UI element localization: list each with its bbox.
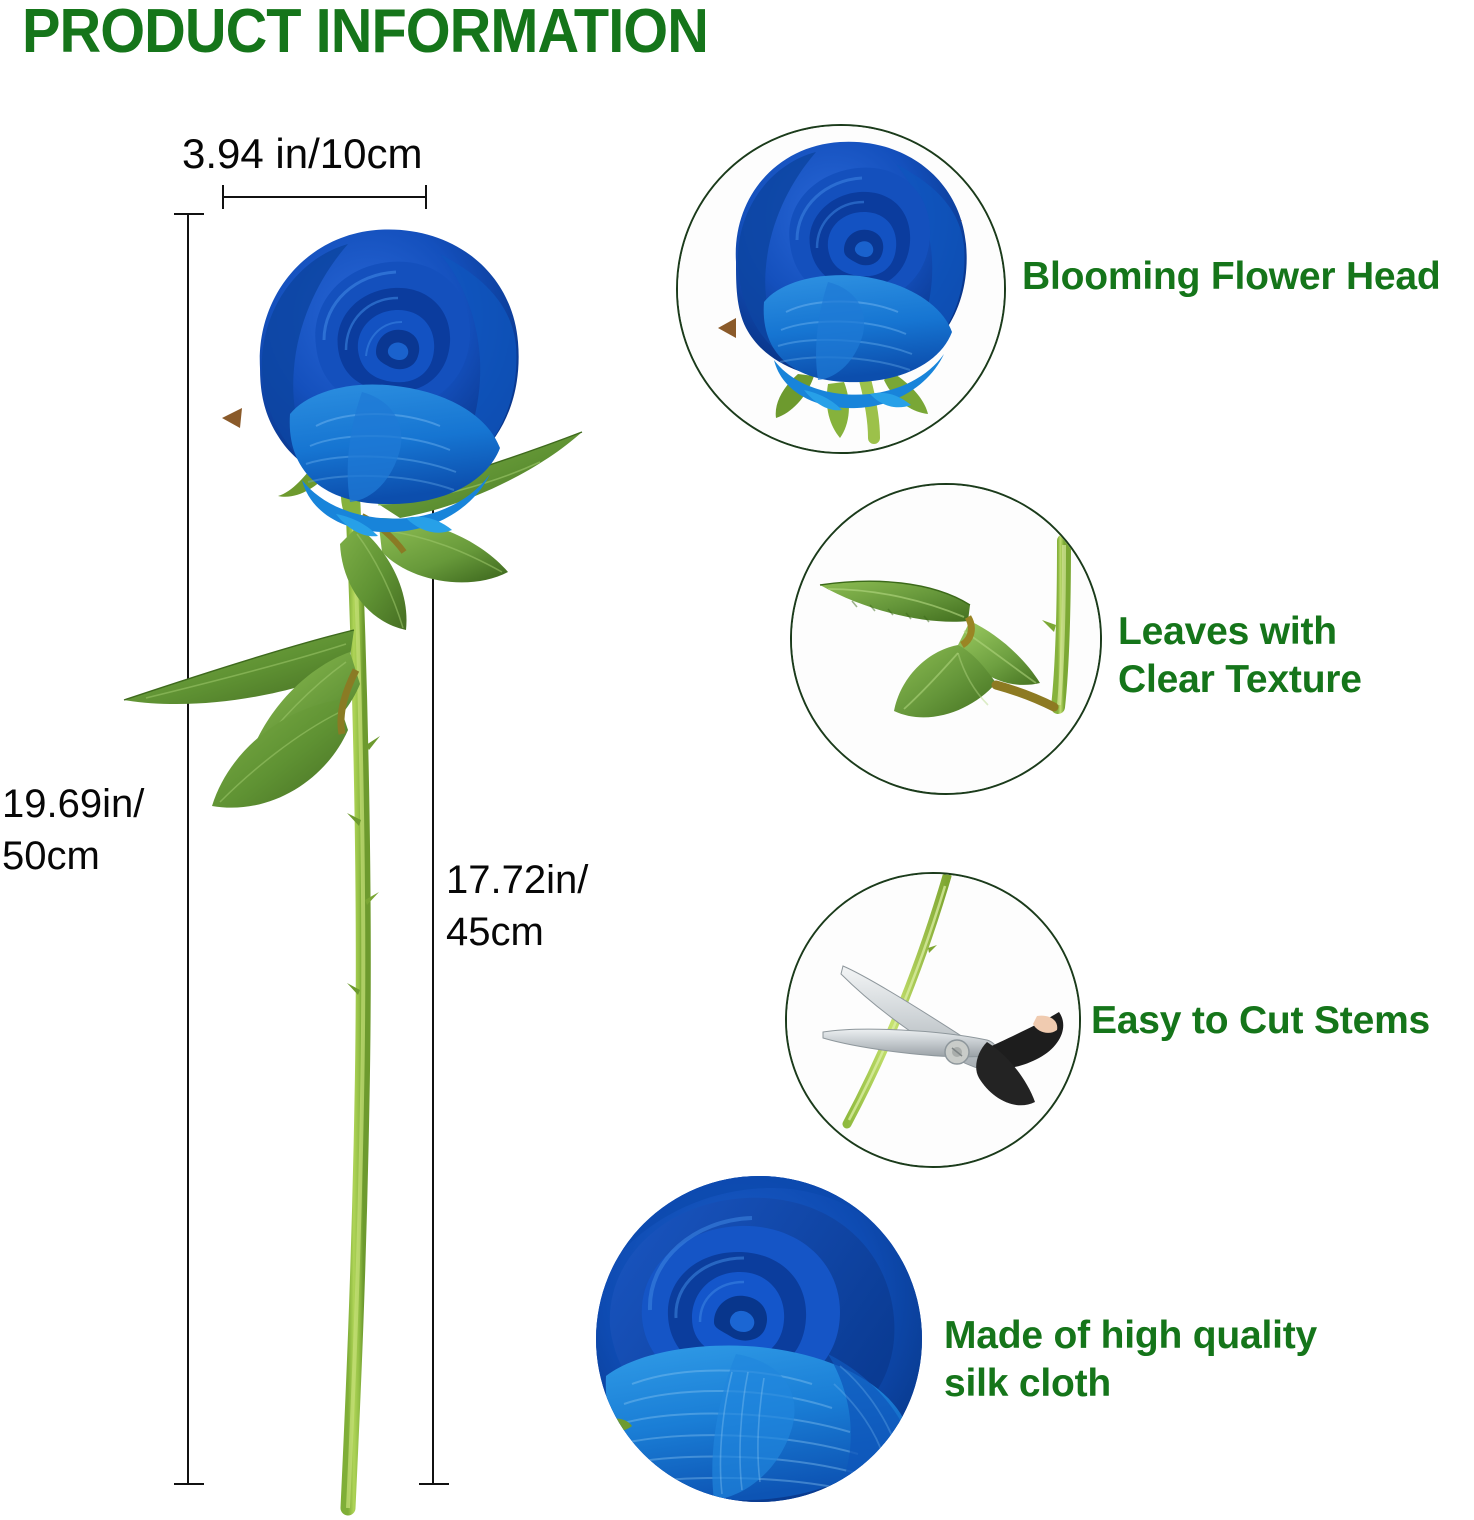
callout-label-blooming-flower-head: Blooming Flower Head <box>1022 253 1441 301</box>
page-title: PRODUCT INFORMATION <box>22 0 708 67</box>
callout-label-easy-to-cut-stems: Easy to Cut Stems <box>1091 997 1430 1045</box>
callout-label-leaves-with-clear-texture: Leaves with Clear Texture <box>1118 608 1362 704</box>
callout-image-scissors <box>785 872 1081 1168</box>
callout-leaves-with-clear-texture[interactable]: Leaves with Clear Texture <box>790 483 1474 813</box>
main-rose-illustration <box>110 200 630 1520</box>
lower-leaf-cluster <box>124 630 360 808</box>
main-product-panel: 3.94 in/10cm 19.69in/ 50cm 17.72in/ 45cm <box>0 90 660 1500</box>
callout-label-silk-cloth: Made of high quality silk cloth <box>944 1312 1317 1408</box>
callout-easy-to-cut-stems[interactable]: Easy to Cut Stems <box>785 872 1474 1202</box>
callout-blooming-flower-head[interactable]: Blooming Flower Head <box>676 124 1474 464</box>
callout-image-leaves <box>790 483 1102 795</box>
dimension-width-label: 3.94 in/10cm <box>182 128 422 180</box>
callout-silk-cloth[interactable]: Made of high quality silk cloth <box>596 1176 1474 1500</box>
callout-image-rose-head <box>676 124 1006 454</box>
callout-image-silk-macro <box>596 1176 922 1502</box>
